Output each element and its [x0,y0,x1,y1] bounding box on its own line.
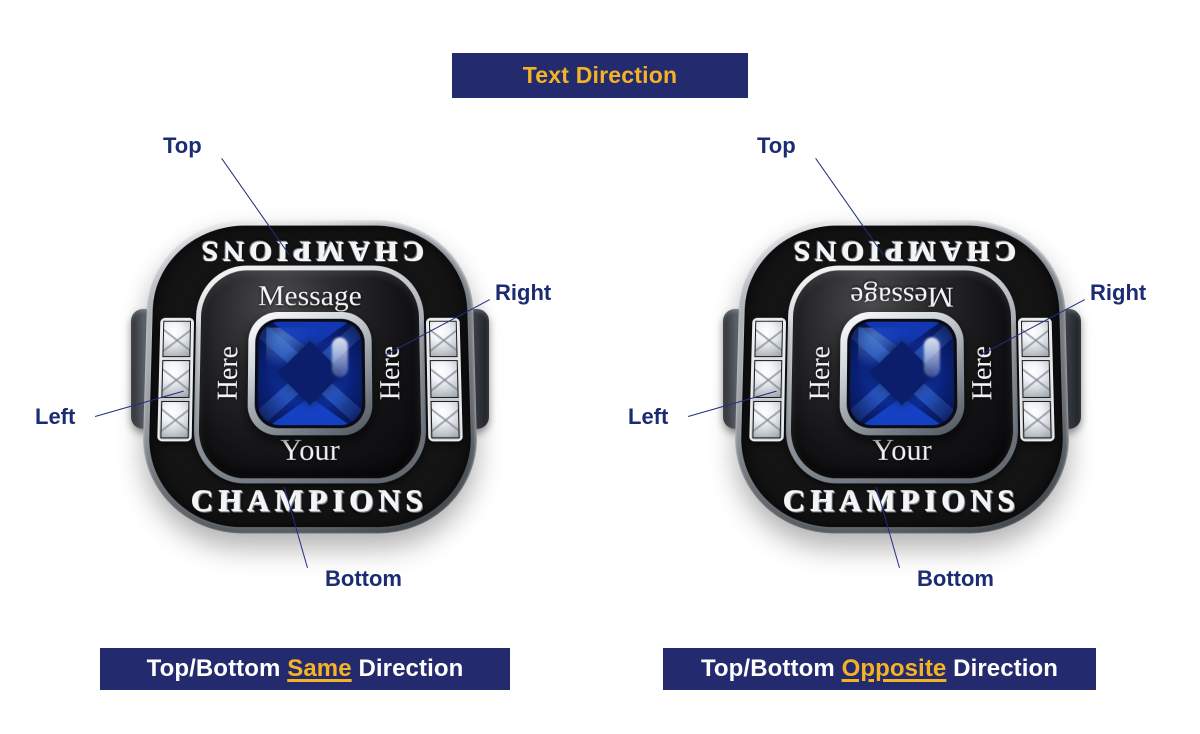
gem-bezel [839,311,964,434]
annotation-bottom-left-ring: Bottom [325,566,402,592]
cz-stone [431,401,460,439]
gem-bezel-inner [846,318,957,427]
annotation-bottom-right-ring: Bottom [917,566,994,592]
face-text-left: Here [213,346,246,400]
face-text-right: Here [375,346,408,400]
blue-gemstone [258,321,363,424]
annotation-top-left-ring: Top [163,133,202,159]
gem-highlight [332,337,348,377]
cz-stone-channel-left [749,318,786,442]
cz-stone [429,321,458,358]
caption-suffix: Direction [352,655,464,682]
ring-illustration-right: CHAMPIONS CHAMPIONS Message Your Here He… [737,215,1067,530]
cz-stone-channel-left [157,318,194,442]
gem-highlight [924,337,940,377]
caption-highlight: Opposite [842,655,947,682]
cz-stone [754,321,783,358]
ring-illustration-left: CHAMPIONS CHAMPIONS Message Your Here He… [145,215,475,530]
face-text-bottom: Your [790,433,1014,468]
face-text-bottom: Your [198,433,422,468]
caption-suffix: Direction [946,655,1058,682]
gem-bezel-inner [254,318,365,427]
cz-stone [430,360,459,397]
gem-bezel [247,311,372,434]
face-text-top: Message [201,280,419,313]
caption-badge-right: Top/Bottom Opposite Direction [663,648,1096,690]
face-text-left: Here [805,346,838,400]
cz-stone [752,401,781,439]
caption-text-left: Top/Bottom Same Direction [147,655,464,683]
cz-stone [162,321,191,358]
ring-outer-band: CHAMPIONS CHAMPIONS Message Your Here He… [739,226,1065,528]
cz-stone [1022,360,1051,397]
face-text-top: Message [793,280,1011,313]
blue-gemstone [850,321,955,424]
cz-stone-channel-right [426,318,463,442]
annotation-right-right-ring: Right [1090,280,1146,306]
cz-stone [160,401,189,439]
annotation-left-left-ring: Left [35,404,75,430]
ring-outer-band: CHAMPIONS CHAMPIONS Message Your Here He… [147,226,473,528]
annotation-top-right-ring: Top [757,133,796,159]
annotation-right-left-ring: Right [495,280,551,306]
caption-badge-left: Top/Bottom Same Direction [100,648,510,690]
caption-text-right: Top/Bottom Opposite Direction [701,655,1058,683]
caption-prefix: Top/Bottom [147,655,288,682]
cz-stone [1023,401,1052,439]
ring-body: CHAMPIONS CHAMPIONS Message Your Here He… [732,220,1071,533]
annotation-left-right-ring: Left [628,404,668,430]
page-title: Text Direction [523,62,677,89]
title-badge: Text Direction [452,53,748,98]
caption-highlight: Same [287,655,351,682]
ring-body: CHAMPIONS CHAMPIONS Message Your Here He… [140,220,479,533]
caption-prefix: Top/Bottom [701,655,842,682]
cz-stone-channel-right [1018,318,1055,442]
